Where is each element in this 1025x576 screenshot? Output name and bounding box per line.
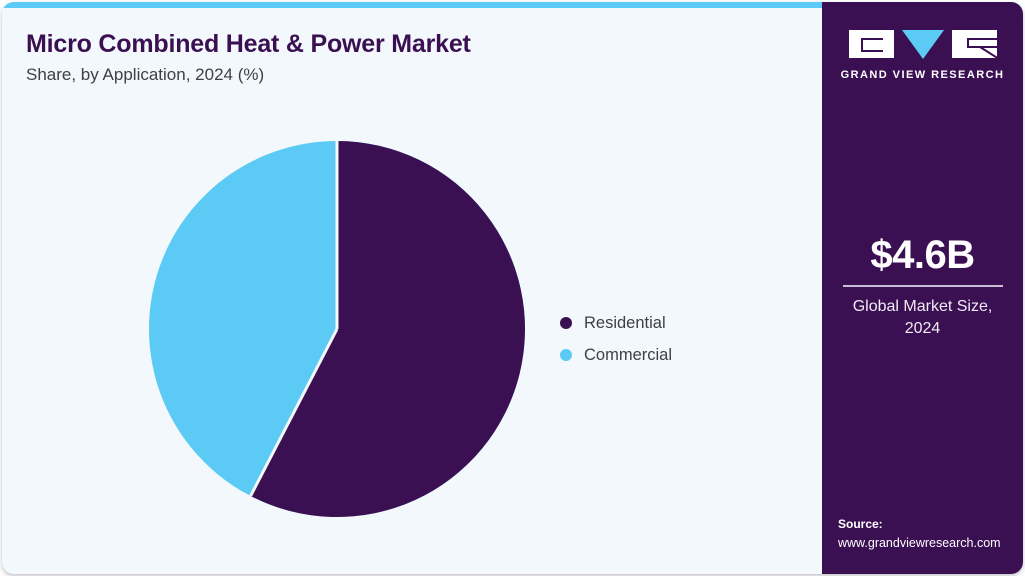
- source-url[interactable]: www.grandviewresearch.com: [838, 534, 1023, 552]
- legend-label-commercial: Commercial: [584, 346, 672, 365]
- logo-svg: [849, 28, 997, 60]
- g-block-icon: [849, 30, 894, 58]
- infographic-card: Micro Combined Heat & Power Market Share…: [2, 2, 1023, 574]
- infographic-root: Micro Combined Heat & Power Market Share…: [0, 0, 1025, 576]
- pie-chart: [149, 141, 525, 517]
- stat-divider: [843, 285, 1003, 287]
- stat-caption: Global Market Size, 2024: [822, 296, 1023, 339]
- legend-swatch-residential-icon: [560, 317, 572, 329]
- legend-swatch-commercial-icon: [560, 349, 572, 361]
- brand-logo: GRAND VIEW RESEARCH: [822, 28, 1023, 81]
- legend-label-residential: Residential: [584, 314, 666, 333]
- r-block-icon: [952, 30, 997, 59]
- stat-value: $4.6B: [822, 234, 1023, 276]
- chart-legend: Residential Commercial: [560, 307, 810, 371]
- legend-item-residential[interactable]: Residential: [560, 307, 810, 339]
- brand-wordmark: GRAND VIEW RESEARCH: [822, 69, 1023, 81]
- source-label: Source:: [838, 516, 1023, 533]
- legend-item-commercial[interactable]: Commercial: [560, 339, 810, 371]
- market-size-stat: $4.6B Global Market Size, 2024: [822, 234, 1023, 339]
- source-block: Source: www.grandviewresearch.com: [838, 516, 1023, 552]
- chart-area: Micro Combined Heat & Power Market Share…: [2, 8, 822, 574]
- brand-panel: GRAND VIEW RESEARCH $4.6B Global Market …: [822, 2, 1023, 574]
- logo-marks: [849, 28, 997, 60]
- page-title: Micro Combined Heat & Power Market: [26, 30, 471, 59]
- pie-chart-svg: [149, 141, 525, 517]
- v-triangle-icon: [902, 30, 944, 59]
- page-subtitle: Share, by Application, 2024 (%): [26, 65, 264, 85]
